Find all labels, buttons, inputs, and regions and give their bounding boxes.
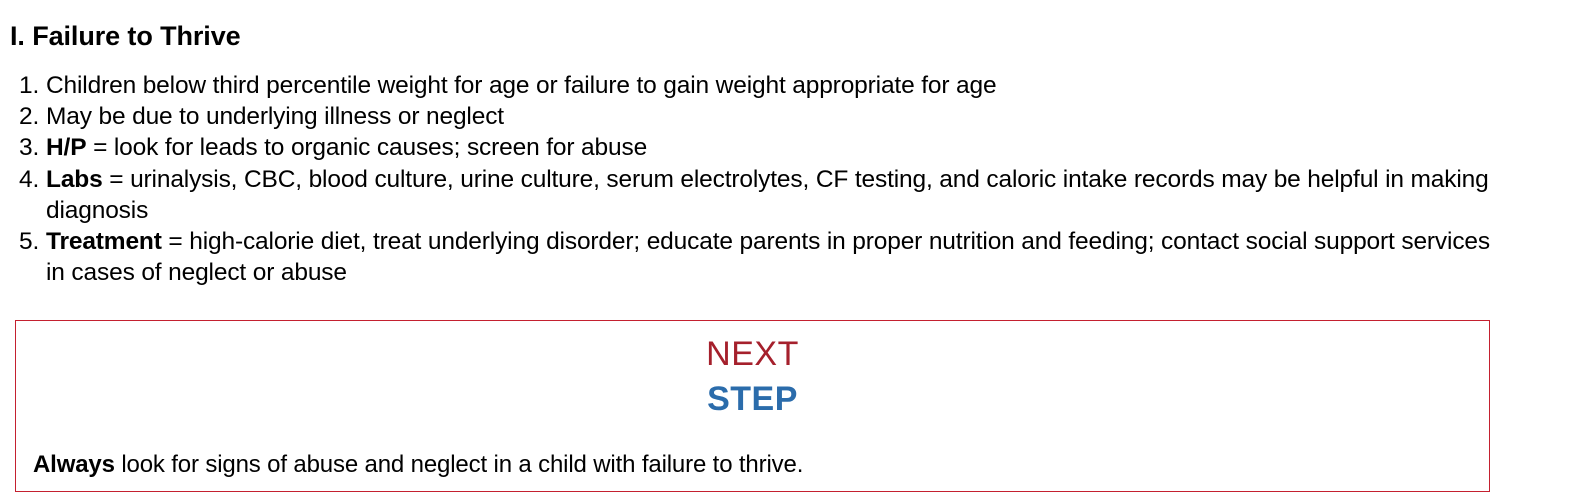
list-item-text: Labs = urinalysis, CBC, blood culture, u… [46, 164, 1510, 226]
list-item-lead: Treatment [46, 228, 162, 255]
list-item-lead: H/P [46, 134, 86, 161]
list-item-body: Children below third percentile weight f… [46, 72, 996, 99]
list-item-number: 4. [19, 164, 49, 195]
list-item: 1. Children below third percentile weigh… [10, 70, 1510, 101]
list-item-body: May be due to underlying illness or negl… [46, 103, 504, 130]
list-item-body: = look for leads to organic causes; scre… [86, 134, 647, 161]
page-title: I. Failure to Thrive [10, 20, 241, 52]
slide-page: I. Failure to Thrive 1. Children below t… [0, 0, 1580, 502]
list-item: 5. Treatment = high-calorie diet, treat … [10, 226, 1510, 288]
list-item-lead: Labs [46, 166, 103, 193]
list-item-body: = urinalysis, CBC, blood culture, urine … [46, 166, 1489, 224]
list-item-number: 1. [19, 70, 49, 101]
list-item-text: H/P = look for leads to organic causes; … [46, 132, 1510, 163]
list-item-number: 5. [19, 226, 49, 257]
list-item-text: May be due to underlying illness or negl… [46, 101, 1510, 132]
next-step-title-next: NEXT [16, 333, 1489, 376]
next-step-heading: NEXT STEP [16, 321, 1489, 422]
next-step-body-rest: look for signs of abuse and neglect in a… [115, 451, 803, 478]
list-item-body: = high-calorie diet, treat underlying di… [46, 228, 1490, 286]
list-item-number: 2. [19, 101, 49, 132]
next-step-title-step: STEP [16, 376, 1489, 422]
list-item-text: Children below third percentile weight f… [46, 70, 1510, 101]
list-item: 2. May be due to underlying illness or n… [10, 101, 1510, 132]
list-item-number: 3. [19, 132, 49, 163]
next-step-body-lead: Always [33, 451, 115, 478]
list-item: 3. H/P = look for leads to organic cause… [10, 132, 1510, 163]
list-item-text: Treatment = high-calorie diet, treat und… [46, 226, 1510, 288]
list-item: 4. Labs = urinalysis, CBC, blood culture… [10, 164, 1510, 226]
next-step-callout-box: NEXT STEP Always look for signs of abuse… [15, 320, 1490, 492]
next-step-body-text: Always look for signs of abuse and negle… [33, 450, 1475, 480]
outline-list: 1. Children below third percentile weigh… [10, 70, 1510, 288]
